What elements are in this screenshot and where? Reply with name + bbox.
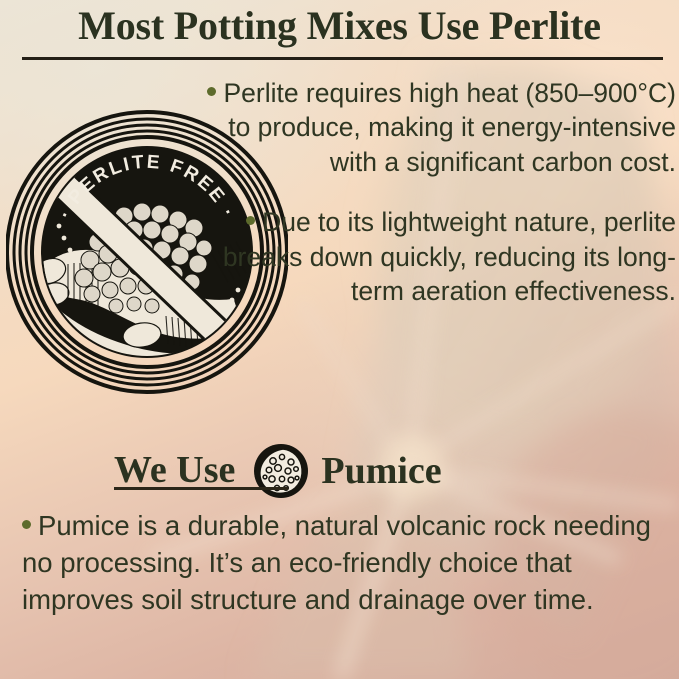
poster-title-wrap: Most Potting Mixes Use Perlite — [0, 4, 679, 48]
bullet-dot-icon — [22, 520, 31, 529]
we-use-row: We Use Pumice — [114, 443, 534, 499]
perlite-bullet-list: Perlite requires high heat (850–900°C) t… — [190, 76, 676, 309]
pumice-description-text: Pumice is a durable, natural volcanic ro… — [22, 510, 651, 615]
poster-canvas: Most Potting Mixes Use Perlite — [0, 0, 679, 679]
pumice-rock-icon — [253, 443, 309, 499]
page-title: Most Potting Mixes Use Perlite — [0, 4, 679, 48]
list-item: Perlite requires high heat (850–900°C) t… — [190, 76, 676, 179]
bullet-text: Due to its lightweight nature, perlite b… — [223, 207, 676, 306]
bullet-dot-icon — [207, 87, 216, 96]
pumice-material-label: Pumice — [321, 452, 441, 490]
pumice-description: Pumice is a durable, natural volcanic ro… — [22, 508, 652, 619]
bullet-text: Perlite requires high heat (850–900°C) t… — [223, 78, 676, 177]
title-underline-rule — [22, 57, 663, 60]
list-item: Due to its lightweight nature, perlite b… — [190, 205, 676, 308]
bullet-dot-icon — [246, 216, 255, 225]
we-use-label: We Use — [114, 451, 235, 492]
we-use-underline-rule — [114, 487, 288, 490]
